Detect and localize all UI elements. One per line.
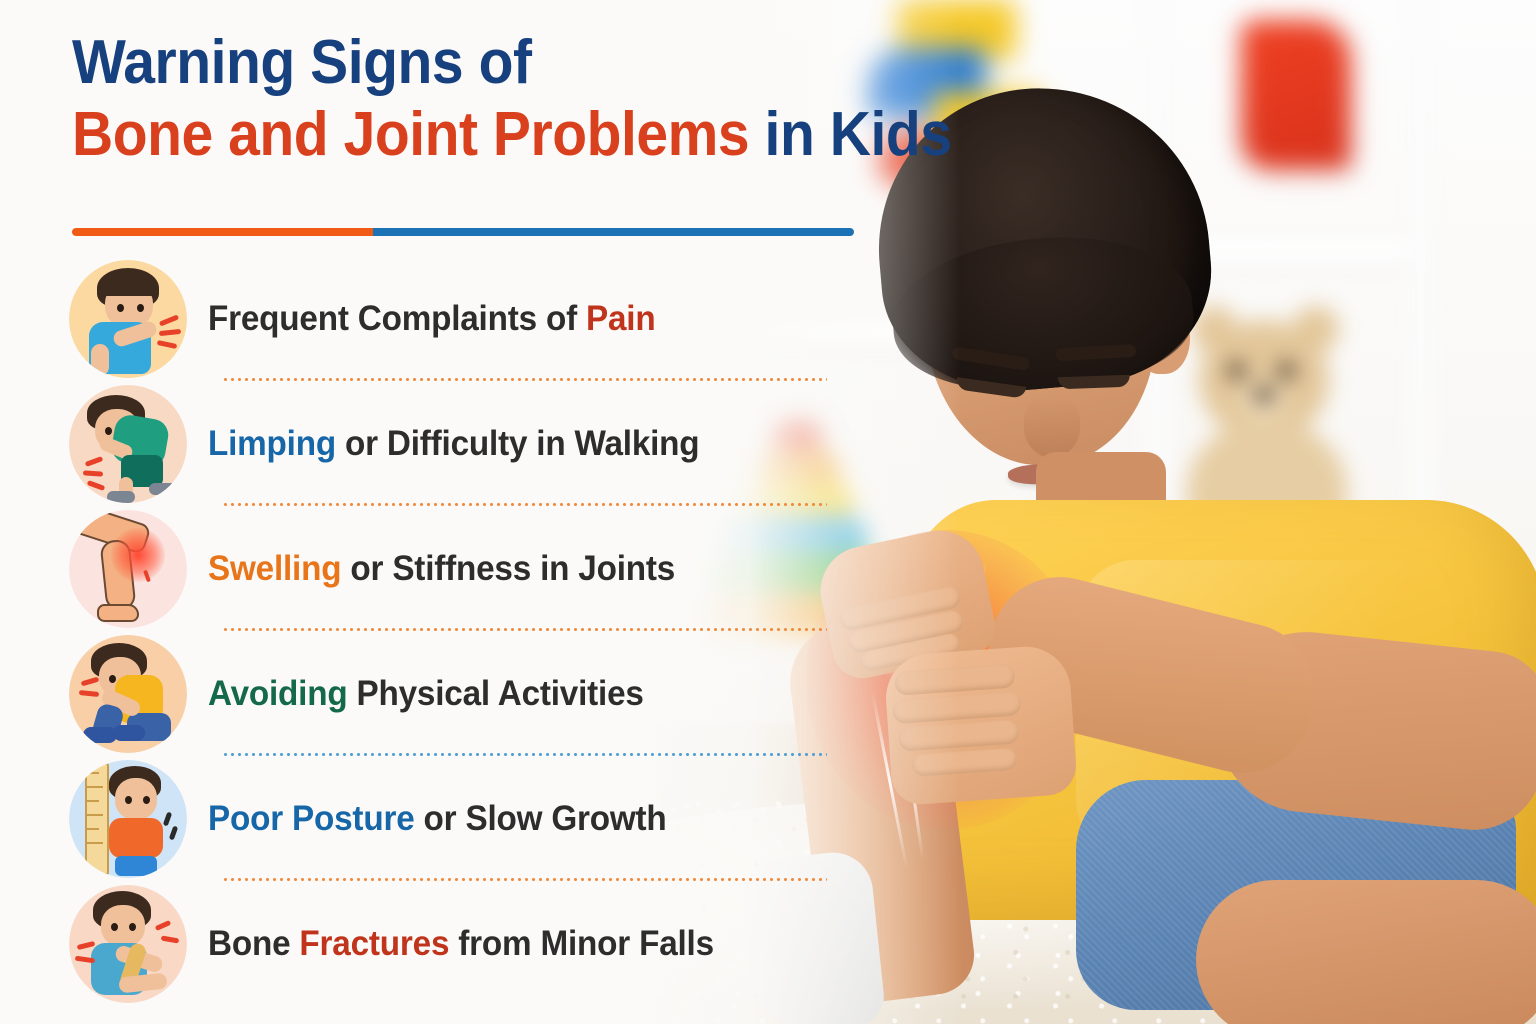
list-item-label: Poor Posture or Slow Growth — [208, 799, 667, 839]
list-item: Bone Fractures from Minor Falls — [64, 881, 864, 1006]
text-before: Frequent Complaints of — [208, 299, 586, 338]
boy-holding-shoulder-pain-icon — [69, 260, 187, 378]
highlight-word: Fractures — [299, 924, 449, 963]
text-after: or Slow Growth — [414, 799, 666, 838]
highlight-word: Poor Posture — [208, 799, 414, 838]
headline-highlight: Bone and Joint Problems — [72, 100, 749, 169]
list-item: Swelling or Stiffness in Joints — [64, 506, 864, 631]
text-before: Bone — [208, 924, 299, 963]
content-column: Warning Signs of Bone and Joint Problems… — [0, 0, 1130, 1024]
highlight-word: Limping — [208, 424, 336, 463]
headline-line-2: Bone and Joint Problems in Kids — [72, 102, 951, 168]
text-after: from Minor Falls — [449, 924, 714, 963]
highlight-word: Avoiding — [208, 674, 347, 713]
boy-tying-shoes-sitting-icon — [69, 635, 187, 753]
boy-limping-icon — [69, 385, 187, 503]
swollen-knee-leg-icon — [69, 510, 187, 628]
title-accent-bar — [72, 228, 854, 236]
accent-bar-blue-segment — [373, 228, 854, 236]
headline-line-1: Warning Signs of — [72, 30, 951, 96]
list-item-label: Swelling or Stiffness in Joints — [208, 549, 675, 589]
headline-suffix: in Kids — [749, 100, 951, 169]
list-item-label: Frequent Complaints of Pain — [208, 299, 655, 339]
boy-height-measure-ruler-icon — [69, 760, 187, 878]
text-after: Physical Activities — [347, 674, 643, 713]
infographic-poster: Warning Signs of Bone and Joint Problems… — [0, 0, 1536, 1024]
highlight-word: Pain — [586, 299, 655, 338]
list-item: Avoiding Physical Activities — [64, 631, 864, 756]
list-item: Poor Posture or Slow Growth — [64, 756, 864, 881]
warning-signs-list: Frequent Complaints of Pain — [64, 256, 864, 1006]
list-item-label: Bone Fractures from Minor Falls — [208, 924, 714, 964]
accent-bar-orange-segment — [72, 228, 373, 236]
boy-holding-injured-arm-icon — [69, 885, 187, 1003]
list-item: Frequent Complaints of Pain — [64, 256, 864, 381]
list-item-label: Avoiding Physical Activities — [208, 674, 644, 714]
highlight-word: Swelling — [208, 549, 341, 588]
text-after: or Difficulty in Walking — [336, 424, 699, 463]
list-item-label: Limping or Difficulty in Walking — [208, 424, 699, 464]
text-after: or Stiffness in Joints — [341, 549, 675, 588]
page-title: Warning Signs of Bone and Joint Problems… — [72, 30, 1028, 167]
list-item: Limping or Difficulty in Walking — [64, 381, 864, 506]
